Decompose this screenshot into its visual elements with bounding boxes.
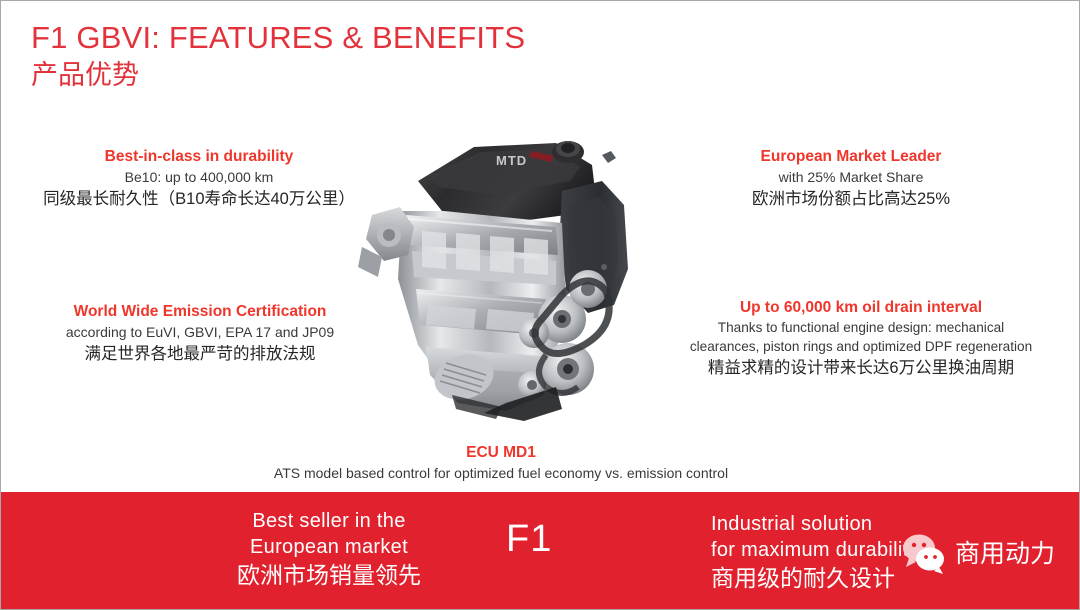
wechat-badge: 商用动力 [897, 532, 1055, 576]
feature-headline: ECU MD1 [201, 442, 801, 463]
feature-subtitle-en: according to EuVI, GBVI, EPA 17 and JP09 [15, 322, 385, 342]
feature-oil-drain-interval: Up to 60,000 km oil drain interval Thank… [651, 297, 1071, 380]
wechat-icon [897, 532, 949, 576]
feature-subtitle-en-line1: Thanks to functional engine design: mech… [651, 318, 1071, 337]
feature-subtitle-en-line2: clearances, piston rings and optimized D… [651, 337, 1071, 356]
feature-subtitle-en: Be10: up to 400,000 km [19, 167, 379, 187]
feature-ecu-md1: ECU MD1 ATS model based control for opti… [201, 442, 801, 483]
feature-headline: Best-in-class in durability [19, 146, 379, 167]
svg-text:MTD: MTD [496, 153, 527, 168]
banner-left-en-line1: Best seller in the [209, 508, 449, 534]
feature-subtitle-en: with 25% Market Share [701, 167, 1001, 187]
feature-subtitle-en: ATS model based control for optimized fu… [201, 463, 801, 483]
banner-left-en-line2: European market [209, 534, 449, 560]
page-title-en: F1 GBVI: FEATURES & BENEFITS [31, 19, 671, 57]
wechat-label: 商用动力 [955, 539, 1055, 569]
feature-european-market-leader: European Market Leader with 25% Market S… [701, 146, 1001, 211]
feature-headline: Up to 60,000 km oil drain interval [651, 297, 1071, 318]
feature-subtitle-zh: 精益求精的设计带来长达6万公里换油周期 [651, 356, 1071, 380]
feature-headline: European Market Leader [701, 146, 1001, 167]
feature-subtitle-zh: 满足世界各地最严苛的排放法规 [15, 342, 385, 366]
feature-best-in-class-durability: Best-in-class in durability Be10: up to … [19, 146, 379, 211]
engine-photo: MTD [356, 119, 656, 437]
feature-subtitle-zh: 欧洲市场份额占比高达25% [701, 187, 1001, 211]
banner-left-block: Best seller in the European market 欧洲市场销… [209, 508, 449, 590]
feature-world-wide-emission-certification: World Wide Emission Certification accord… [15, 301, 385, 366]
page-title: F1 GBVI: FEATURES & BENEFITS 产品优势 [31, 19, 671, 92]
feature-headline: World Wide Emission Certification [15, 301, 385, 322]
feature-subtitle-zh: 同级最长耐久性（B10寿命长达40万公里） [19, 187, 379, 211]
banner-center-label: F1 [506, 516, 552, 562]
page-title-zh: 产品优势 [31, 58, 671, 92]
slide-canvas: F1 GBVI: FEATURES & BENEFITS 产品优势 [0, 0, 1080, 610]
banner-left-zh: 欧洲市场销量领先 [209, 560, 449, 590]
